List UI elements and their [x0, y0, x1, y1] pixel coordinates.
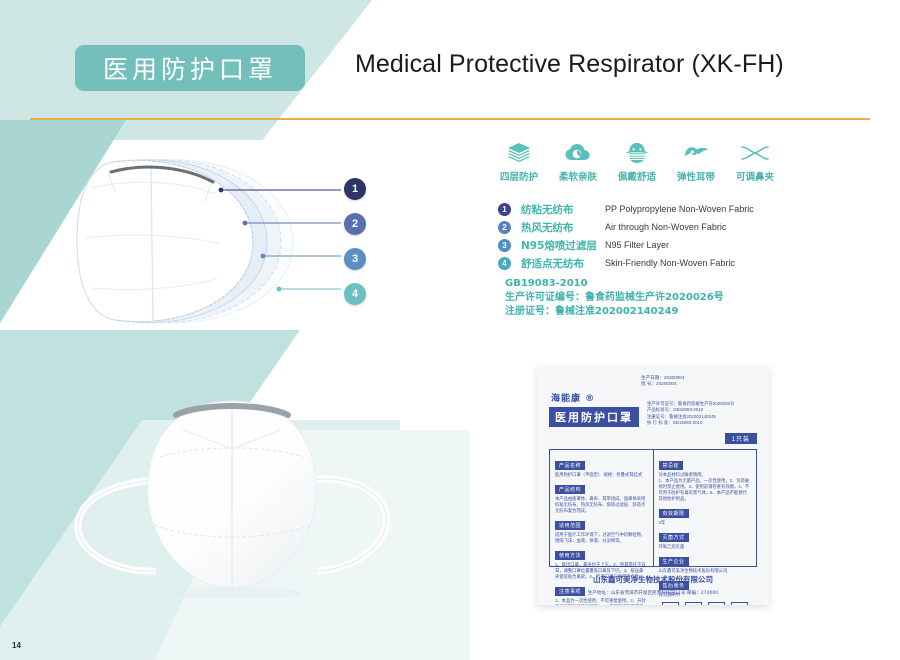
packaging-photo: 生产日期：20200004 批 号：20200004 海能康 ® 医用防护口罩 … [537, 367, 769, 605]
callout-3: 3 [344, 248, 366, 270]
packaging-right-column: 禁忌症 对本品材料过敏者慎用。 1、本产品为无菌产品，一次性使用。2、包装破损时… [653, 450, 757, 566]
packaging-address: 生产地址：山东省菏泽市开发区民营科技园11号 邮编：274000 [537, 590, 769, 596]
product-spec-page: 医用防护口罩 Medical Protective Respirator (XK… [0, 0, 900, 660]
certification-block: GB19083-2010 生产许可证编号：鲁食药监械生产许2020026号 注册… [505, 277, 724, 319]
packaging-heading: 产品名称 [555, 461, 585, 470]
legend-row: 1 纺粘无纺布 PP Polypropylene Non-Woven Fabri… [498, 200, 798, 218]
packaging-text: 1、本品为一次性使用，不可重复使用。2、开封后如发现破损请勿使用。3、使用后按医… [555, 598, 648, 605]
packaging-quantity-tag: 1只装 [725, 433, 757, 444]
feature-comfortable-wear: 佩戴舒适 [610, 140, 664, 190]
packaging-info-box: 产品名称 医用防护口罩（平面型） 规格：折叠式耳挂式 产品结构 本产品由面罩体、… [549, 449, 757, 567]
packaging-text: 本产品由面罩体、鼻夹、耳带组成。面罩体采用纺粘无纺布、热风无纺布、熔喷过滤层、舒… [555, 496, 648, 514]
legend-row: 3 N95熔喷过滤层 N95 Filter Layer [498, 236, 798, 254]
diagram-callouts: 1 2 3 4 [330, 178, 390, 308]
packaging-top-codes: 生产日期：20200004 批 号：20200004 [641, 375, 759, 387]
packaging-text: 适用于医疗工作环境下，过滤空气中的颗粒物，阻隔飞沫、血液、体液、分泌物等。 [555, 532, 648, 544]
standard-number: GB19083-2010 [505, 277, 724, 291]
registration-number: 注册证号：鲁械注准202002140249 [505, 305, 724, 319]
feature-label: 可调鼻夹 [728, 169, 782, 183]
feature-icon-row: 四层防护 柔软亲肤 [492, 140, 782, 190]
callout-4: 4 [344, 283, 366, 305]
legend-row: 2 热风无纺布 Air through Non-Woven Fabric [498, 218, 798, 236]
feature-four-layer: 四层防护 [492, 140, 546, 190]
legend-label-en: Air through Non-Woven Fabric [605, 222, 726, 232]
callout-1: 1 [344, 178, 366, 200]
legend-row: 4 舒适点无纺布 Skin-Friendly Non-Woven Fabric [498, 254, 798, 272]
ear-loop-icon [669, 140, 723, 166]
packaging-heading: 适用范围 [555, 521, 585, 530]
symbol-manual-icon [708, 602, 725, 605]
packaging-text: 1、本产品为无菌产品，一次性使用。2、包装破损时禁止使用。3、使用前请检查有效期… [659, 478, 752, 502]
packaging-left-column: 产品名称 医用防护口罩（平面型） 规格：折叠式耳挂式 产品结构 本产品由面罩体、… [550, 450, 653, 566]
packaging-text: 环氧乙烷灭菌 [659, 544, 752, 550]
legend-number: 1 [498, 203, 511, 216]
legend-number: 2 [498, 221, 511, 234]
packaging-meta-line: 执 行 标 准：GB19083-2010 [647, 420, 765, 426]
symbol-single-use-icon [662, 602, 679, 605]
packaging-text: 医用防护口罩（平面型） 规格：折叠式耳挂式 [555, 472, 648, 478]
packaging-text: 2年 [659, 520, 752, 526]
packaging-heading: 禁忌症 [659, 461, 684, 470]
feature-adjustable-noseclip: 可调鼻夹 [728, 140, 782, 190]
feature-elastic-earloop: 弹性耳带 [669, 140, 723, 190]
packaging-company: 山东鑫可美净生物技术股份有限公司 [537, 574, 769, 585]
title-badge-cn: 医用防护口罩 [75, 45, 305, 91]
legend-number: 3 [498, 239, 511, 252]
feature-label: 佩戴舒适 [610, 169, 664, 183]
legend-label-en: N95 Filter Layer [605, 240, 669, 250]
face-mask-icon [610, 140, 664, 166]
layers-icon [492, 140, 546, 166]
symbol-expiry-icon [731, 602, 748, 605]
legend-label-en: PP Polypropylene Non-Woven Fabric [605, 204, 754, 214]
header-divider [30, 118, 870, 120]
legend-label-cn: 纺粘无纺布 [521, 202, 605, 217]
nose-clip-icon [728, 140, 782, 166]
feature-soft-skin: 柔软亲肤 [551, 140, 605, 190]
production-license: 生产许可证编号：鲁食药监械生产许2020026号 [505, 291, 724, 305]
page-number: 14 [12, 641, 21, 650]
symbol-keep-dry-icon [685, 602, 702, 605]
page-title: Medical Protective Respirator (XK-FH) [355, 50, 784, 79]
callout-2: 2 [344, 213, 366, 235]
feature-label: 弹性耳带 [669, 169, 723, 183]
layer-legend-list: 1 纺粘无纺布 PP Polypropylene Non-Woven Fabri… [498, 200, 798, 272]
legend-label-cn: N95熔喷过滤层 [521, 238, 605, 253]
packaging-heading: 产品结构 [555, 485, 585, 494]
legend-number: 4 [498, 257, 511, 270]
packaging-heading: 生产企业 [659, 557, 689, 566]
packaging-heading: 灭菌方式 [659, 533, 689, 542]
badge-label: 医用防护口罩 [103, 50, 277, 86]
feature-label: 四层防护 [492, 169, 546, 183]
feature-label: 柔软亲肤 [551, 169, 605, 183]
legend-label-en: Skin-Friendly Non-Woven Fabric [605, 258, 735, 268]
packaging-meta: 生产许可证号：鲁食药监械生产许2020026号 产品标准号：GB19083-20… [647, 401, 765, 427]
page-header: 医用防护口罩 Medical Protective Respirator (XK… [0, 0, 900, 130]
packaging-heading: 有效期限 [659, 509, 689, 518]
packaging-heading: 使用方法 [555, 551, 585, 560]
cloud-soft-icon [551, 140, 605, 166]
mask-product-photo [60, 385, 400, 625]
legend-label-cn: 热风无纺布 [521, 220, 605, 235]
legend-label-cn: 舒适点无纺布 [521, 256, 605, 271]
packaging-symbol-row [659, 602, 752, 605]
packaging-product-name: 医用防护口罩 [549, 407, 639, 427]
packaging-brand: 海能康 ® [551, 391, 595, 404]
packaging-top-line: 批 号：20200004 [641, 381, 759, 387]
